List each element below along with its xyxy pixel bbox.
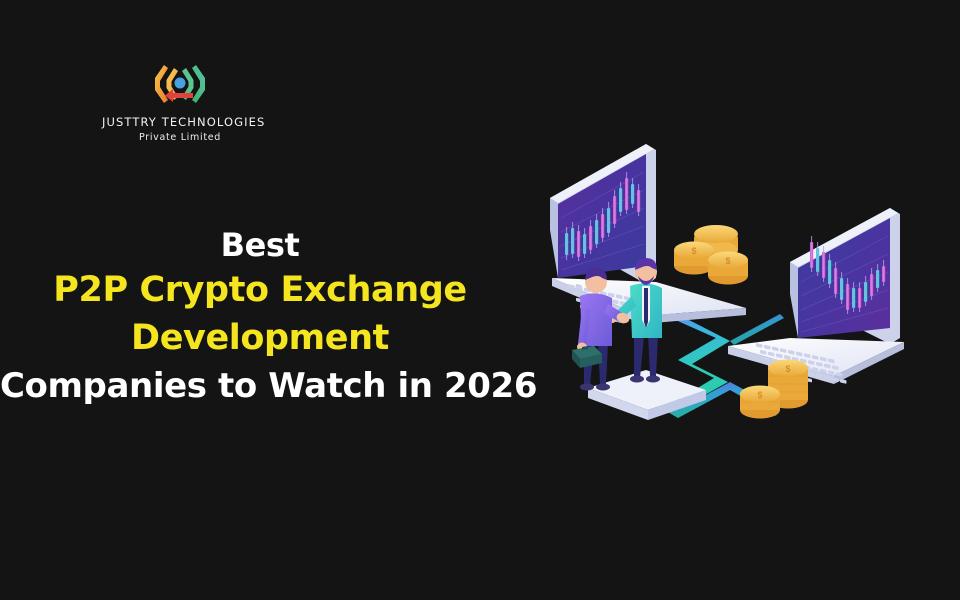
svg-text:$: $ <box>785 364 790 374</box>
logo-company-name: JUSTTRY TECHNOLOGIES <box>102 116 258 129</box>
svg-text:$: $ <box>691 246 696 256</box>
logo-company-subtitle: Private Limited <box>102 132 258 143</box>
headline-block: Best P2P Crypto Exchange Development Com… <box>0 224 520 410</box>
headline-line-1: Best <box>0 224 520 266</box>
headline-line-3: Development <box>0 314 520 362</box>
isometric-p2p-crypto-exchange-illustration: $ $ <box>528 138 952 454</box>
coin-stack-bottom: $ $ <box>740 360 808 419</box>
svg-text:$: $ <box>757 390 762 400</box>
banner-root: JUSTTRY TECHNOLOGIES Private Limited Bes… <box>0 0 960 600</box>
laptop-right <box>728 208 904 390</box>
coin-stack-top: $ $ <box>674 225 748 285</box>
svg-text:$: $ <box>725 256 730 266</box>
illustration-svg: $ $ <box>528 138 952 454</box>
headline-line-2: P2P Crypto Exchange <box>0 266 520 314</box>
logo-block[interactable]: JUSTTRY TECHNOLOGIES Private Limited <box>102 58 258 143</box>
headline-line-4: Companies to Watch in 2026 <box>0 362 520 410</box>
justtry-hexagon-chevron-logo-icon <box>145 58 215 110</box>
briefcase-icon <box>572 346 602 368</box>
